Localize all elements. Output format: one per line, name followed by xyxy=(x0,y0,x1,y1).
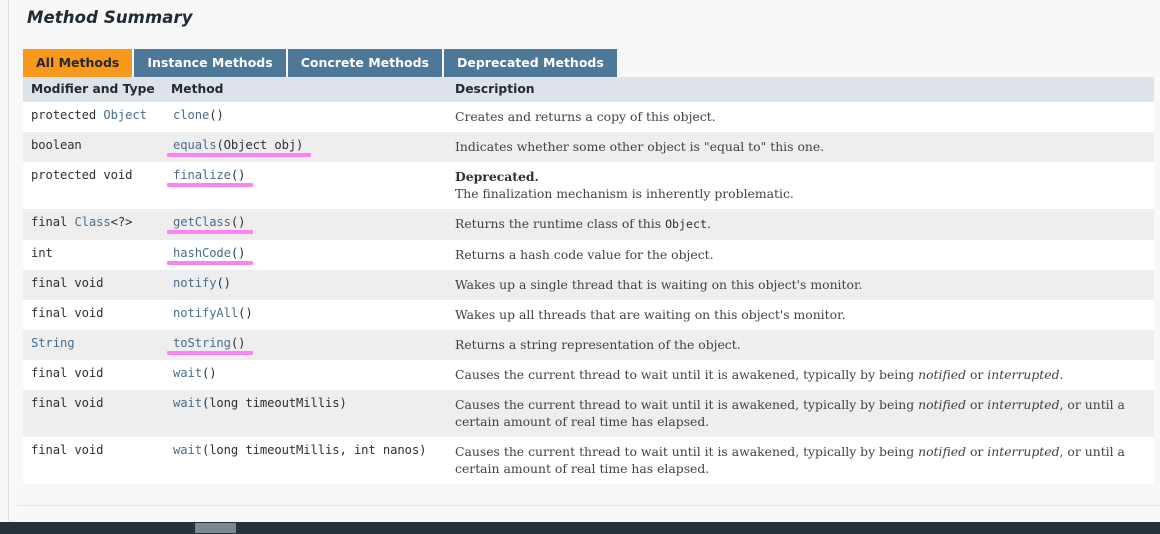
cell-description: Returns the runtime class of this Object… xyxy=(446,209,1154,240)
modifier-keyword: protected void xyxy=(31,168,132,182)
table-row: protected Objectclone()Creates and retur… xyxy=(23,102,1154,132)
method-name-link[interactable]: finalize xyxy=(173,168,231,182)
column-header-modifier: Modifier and Type xyxy=(23,77,163,102)
cell-description: Indicates whether some other object is "… xyxy=(446,132,1154,162)
tab-label: Instance Methods xyxy=(147,56,272,70)
cell-description: Deprecated.The finalization mechanism is… xyxy=(446,162,1154,209)
cell-modifier-and-type: int xyxy=(23,240,163,270)
emphasis-text: notified xyxy=(918,397,966,412)
tab-all-methods[interactable]: All Methods xyxy=(23,49,134,77)
method-name-link[interactable]: equals xyxy=(173,138,216,152)
method-name-link[interactable]: toString xyxy=(173,336,231,350)
cell-method: notify() xyxy=(163,270,446,300)
method-name-link[interactable]: wait xyxy=(173,366,202,380)
cell-method: equals(Object obj) xyxy=(163,132,446,162)
cell-modifier-and-type: final void xyxy=(23,390,163,437)
table-row: final Class<?>getClass()Returns the runt… xyxy=(23,209,1154,240)
type-link[interactable]: Class xyxy=(74,215,110,229)
table-row: booleanequals(Object obj)Indicates wheth… xyxy=(23,132,1154,162)
method-name-link[interactable]: wait xyxy=(173,396,202,410)
highlight-marker: getClass() xyxy=(173,215,245,229)
emphasis-text: notified xyxy=(918,444,966,459)
method-signature-args: () xyxy=(216,276,230,290)
cell-description: Causes the current thread to wait until … xyxy=(446,360,1154,390)
column-header-description: Description xyxy=(446,77,1154,102)
table-row: final voidnotifyAll()Wakes up all thread… xyxy=(23,300,1154,330)
content-bottom-edge xyxy=(17,505,1160,521)
tab-label: Concrete Methods xyxy=(301,56,429,70)
table-body: protected Objectclone()Creates and retur… xyxy=(23,102,1154,484)
cell-method: clone() xyxy=(163,102,446,132)
horizontal-scrollbar[interactable] xyxy=(0,522,1160,534)
type-generic-suffix: <?> xyxy=(111,215,133,229)
tab-deprecated-methods[interactable]: Deprecated Methods xyxy=(444,49,617,77)
cell-method: notifyAll() xyxy=(163,300,446,330)
scrollbar-thumb[interactable] xyxy=(195,523,236,533)
cell-description: Creates and returns a copy of this objec… xyxy=(446,102,1154,132)
table-row: StringtoString()Returns a string represe… xyxy=(23,330,1154,360)
modifier-keyword: final void xyxy=(31,276,103,290)
documentation-page: Method Summary All MethodsInstance Metho… xyxy=(0,0,1160,534)
cell-method: wait() xyxy=(163,360,446,390)
cell-modifier-and-type: final void xyxy=(23,360,163,390)
modifier-keyword: final void xyxy=(31,366,103,380)
table-row: final voidwait(long timeoutMillis)Causes… xyxy=(23,390,1154,437)
modifier-keyword: int xyxy=(31,246,53,260)
cell-modifier-and-type: boolean xyxy=(23,132,163,162)
highlight-marker: finalize() xyxy=(173,168,245,182)
emphasis-text: interrupted xyxy=(987,444,1059,459)
cell-method: toString() xyxy=(163,330,446,360)
cell-method: wait(long timeoutMillis) xyxy=(163,390,446,437)
method-signature-args: () xyxy=(202,366,216,380)
modifier-keyword: final void xyxy=(31,306,103,320)
cell-method: finalize() xyxy=(163,162,446,209)
cell-description: Causes the current thread to wait until … xyxy=(446,390,1154,437)
modifier-keyword: final xyxy=(31,215,74,229)
method-signature-args: () xyxy=(238,306,252,320)
method-filter-tabs: All MethodsInstance MethodsConcrete Meth… xyxy=(23,49,617,77)
method-signature-args: () xyxy=(231,168,245,182)
modifier-keyword: final void xyxy=(31,443,103,457)
cell-modifier-and-type: final void xyxy=(23,437,163,484)
cell-description: Returns a string representation of the o… xyxy=(446,330,1154,360)
table-row: final voidnotify()Wakes up a single thre… xyxy=(23,270,1154,300)
table-row: inthashCode()Returns a hash code value f… xyxy=(23,240,1154,270)
emphasis-text: interrupted xyxy=(987,367,1059,382)
table-header: Modifier and Type Method Description xyxy=(23,77,1154,102)
method-signature-args: () xyxy=(231,215,245,229)
content-frame: Method Summary All MethodsInstance Metho… xyxy=(8,0,1160,521)
method-name-link[interactable]: hashCode xyxy=(173,246,231,260)
cell-modifier-and-type: final void xyxy=(23,270,163,300)
highlight-marker: equals(Object obj) xyxy=(173,138,303,152)
cell-description: Returns a hash code value for the object… xyxy=(446,240,1154,270)
cell-method: getClass() xyxy=(163,209,446,240)
method-summary-table: Modifier and Type Method Description pro… xyxy=(23,77,1154,484)
method-name-link[interactable]: getClass xyxy=(173,215,231,229)
table-row: protected voidfinalize()Deprecated.The f… xyxy=(23,162,1154,209)
method-signature-args: (Object obj) xyxy=(216,138,303,152)
type-link[interactable]: Object xyxy=(103,108,146,122)
tab-label: All Methods xyxy=(36,56,119,70)
table-row: final voidwait(long timeoutMillis, int n… xyxy=(23,437,1154,484)
method-name-link[interactable]: clone xyxy=(173,108,209,122)
tab-label: Deprecated Methods xyxy=(457,56,604,70)
modifier-keyword: protected xyxy=(31,108,103,122)
cell-description: Wakes up a single thread that is waiting… xyxy=(446,270,1154,300)
cell-modifier-and-type: final Class<?> xyxy=(23,209,163,240)
table-header-row: Modifier and Type Method Description xyxy=(23,77,1154,102)
cell-modifier-and-type: protected Object xyxy=(23,102,163,132)
method-name-link[interactable]: notify xyxy=(173,276,216,290)
inline-code: Object xyxy=(665,217,707,231)
table-row: final voidwait()Causes the current threa… xyxy=(23,360,1154,390)
tab-concrete-methods[interactable]: Concrete Methods xyxy=(288,49,444,77)
method-name-link[interactable]: notifyAll xyxy=(173,306,238,320)
cell-modifier-and-type: protected void xyxy=(23,162,163,209)
tab-instance-methods[interactable]: Instance Methods xyxy=(134,49,287,77)
column-header-method: Method xyxy=(163,77,446,102)
cell-modifier-and-type: final void xyxy=(23,300,163,330)
emphasis-text: interrupted xyxy=(987,397,1059,412)
method-signature-args: (long timeoutMillis) xyxy=(202,396,347,410)
cell-description: Causes the current thread to wait until … xyxy=(446,437,1154,484)
method-signature-args: (long timeoutMillis, int nanos) xyxy=(202,443,426,457)
method-signature-args: () xyxy=(209,108,223,122)
page-title: Method Summary xyxy=(9,0,1160,27)
highlight-marker: toString() xyxy=(173,336,245,350)
emphasis-text: notified xyxy=(918,367,966,382)
cell-method: hashCode() xyxy=(163,240,446,270)
highlight-marker: hashCode() xyxy=(173,246,245,260)
cell-modifier-and-type: String xyxy=(23,330,163,360)
cell-method: wait(long timeoutMillis, int nanos) xyxy=(163,437,446,484)
cell-description: Wakes up all threads that are waiting on… xyxy=(446,300,1154,330)
method-name-link[interactable]: wait xyxy=(173,443,202,457)
method-signature-args: () xyxy=(231,336,245,350)
type-link[interactable]: String xyxy=(31,336,74,350)
modifier-keyword: final void xyxy=(31,396,103,410)
modifier-keyword: boolean xyxy=(31,138,82,152)
method-signature-args: () xyxy=(231,246,245,260)
deprecated-label: Deprecated. xyxy=(455,168,1148,185)
